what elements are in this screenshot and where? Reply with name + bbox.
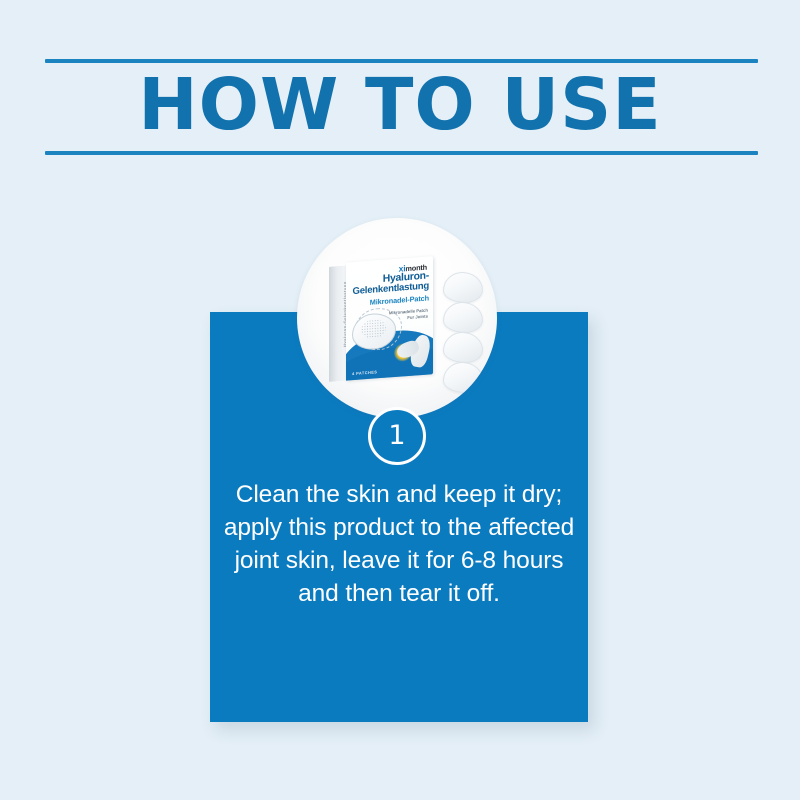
product-name: Hyaluron- Gelenkentlastung Mikronadel-Pa… bbox=[351, 271, 429, 309]
product-box-front: ximonth Hyaluron- Gelenkentlastung Mikro… bbox=[346, 256, 433, 380]
header-bottom-rule bbox=[45, 151, 758, 155]
loose-patch bbox=[443, 302, 483, 333]
loose-patch bbox=[443, 332, 483, 363]
page-title: HOW TO USE bbox=[0, 64, 800, 146]
product-box-illustration: Hyaluron-Gelenkentlastung ximonth Hyalur… bbox=[329, 256, 433, 382]
step-number-badge: 1 bbox=[368, 407, 426, 465]
knee-joint-icon bbox=[392, 330, 430, 369]
product-image-medallion: Hyaluron-Gelenkentlastung ximonth Hyalur… bbox=[297, 218, 497, 418]
step-description: Clean the skin and keep it dry; apply th… bbox=[222, 478, 576, 610]
loose-patch bbox=[443, 362, 483, 393]
loose-patch bbox=[443, 272, 483, 303]
page-header: HOW TO USE bbox=[0, 0, 800, 190]
product-box-spine: Hyaluron-Gelenkentlastung bbox=[329, 266, 346, 382]
